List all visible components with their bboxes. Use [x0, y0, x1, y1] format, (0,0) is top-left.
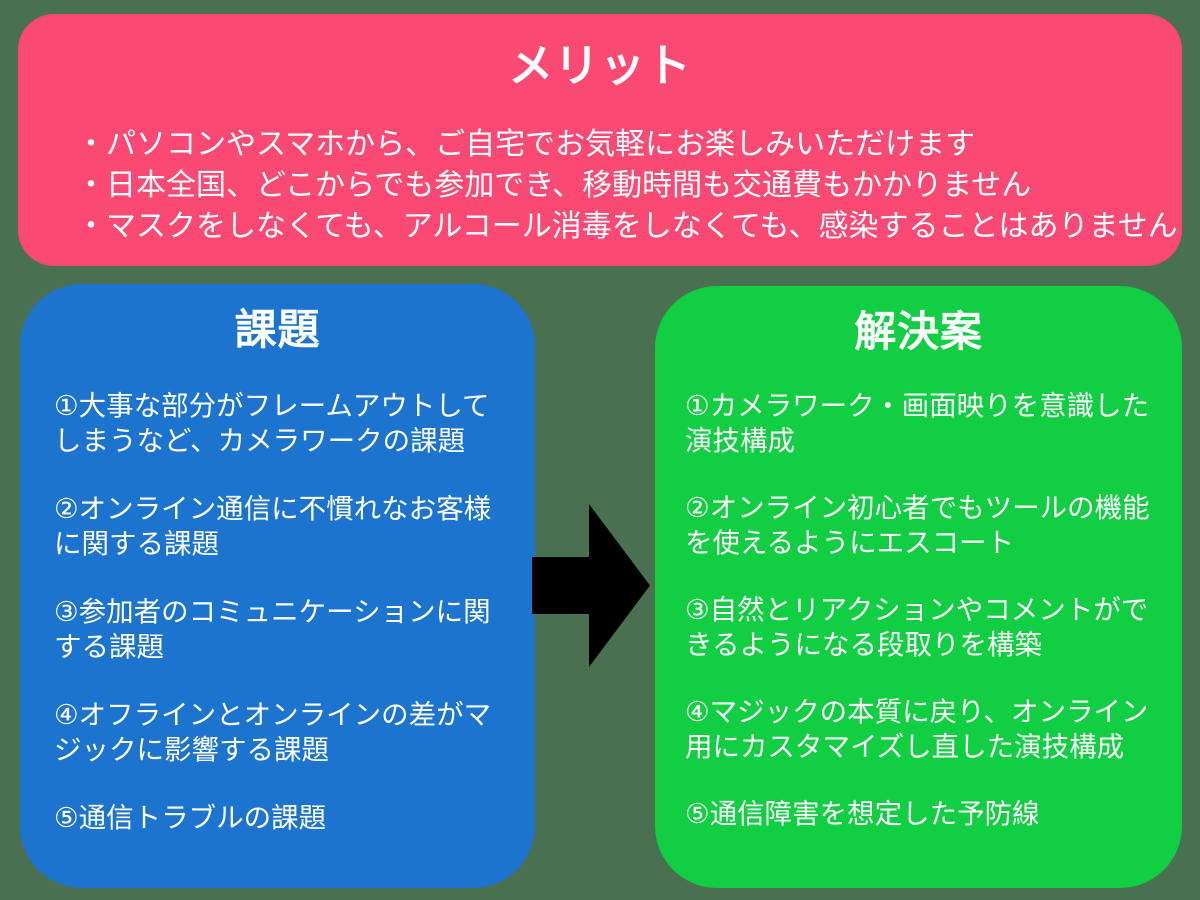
merit-benefit-line: ・日本全国、どこからでも参加でき、移動時間も交通費もかかりません: [76, 165, 1142, 206]
issue-item: ⑤通信トラブルの課題: [54, 800, 501, 835]
merit-benefit-line: ・パソコンやスマホから、ご自宅でお気軽にお楽しみいただけます: [76, 124, 1142, 165]
merit-benefit-list: ・パソコンやスマホから、ご自宅でお気軽にお楽しみいただけます ・日本全国、どこか…: [58, 124, 1142, 247]
solutions-panel: 解決案 ①カメラワーク・画面映りを意識した演技構成 ②オンライン初心者でもツール…: [655, 286, 1182, 888]
solution-item: ④マジックの本質に戻り、オンライン用にカスタマイズし直した演技構成: [685, 694, 1152, 764]
issue-item: ②オンライン通信に不慣れなお客様に関する課題: [54, 491, 501, 561]
issues-item-list: ①大事な部分がフレームアウトしてしまうなど、カメラワークの課題 ②オンライン通信…: [54, 388, 501, 835]
solutions-item-list: ①カメラワーク・画面映りを意識した演技構成 ②オンライン初心者でもツールの機能を…: [685, 388, 1152, 831]
issue-item: ④オフラインとオンラインの差がマジックに影響する課題: [54, 697, 501, 767]
issue-item: ③参加者のコミュニケーションに関する課題: [54, 594, 501, 664]
merit-benefit-line: ・マスクをしなくても、アルコール消毒をしなくても、感染することはありません: [76, 206, 1142, 247]
merit-panel-title: メリット: [58, 40, 1142, 92]
issue-item: ①大事な部分がフレームアウトしてしまうなど、カメラワークの課題: [54, 388, 501, 458]
solutions-panel-title: 解決案: [685, 308, 1152, 356]
arrow-right-icon: [532, 504, 650, 667]
solution-item: ①カメラワーク・画面映りを意識した演技構成: [685, 388, 1152, 458]
solution-item: ③自然とリアクションやコメントができるようになる段取りを構築: [685, 592, 1152, 662]
issues-panel: 課題 ①大事な部分がフレームアウトしてしまうなど、カメラワークの課題 ②オンライ…: [20, 284, 535, 888]
slide-canvas: メリット ・パソコンやスマホから、ご自宅でお気軽にお楽しみいただけます ・日本全…: [0, 0, 1200, 900]
solution-item: ⑤通信障害を想定した予防線: [685, 796, 1152, 831]
solution-item: ②オンライン初心者でもツールの機能を使えるようにエスコート: [685, 490, 1152, 560]
merit-panel: メリット ・パソコンやスマホから、ご自宅でお気軽にお楽しみいただけます ・日本全…: [18, 14, 1182, 266]
issues-panel-title: 課題: [54, 306, 501, 354]
